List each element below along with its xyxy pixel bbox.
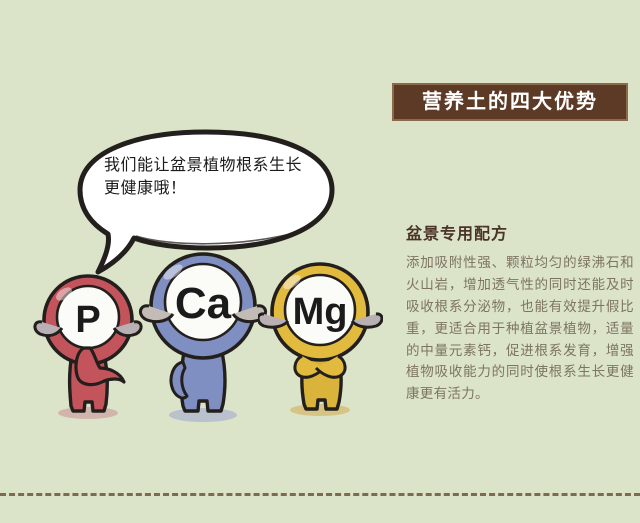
info-body-text: 添加吸附性强、颗粒均匀的绿沸石和火山岩，增加透气性的同时还能及时吸收根系分泌物，…: [406, 252, 634, 405]
mascot-mg-label: Mg: [293, 291, 348, 333]
mascot-p: P: [28, 272, 148, 427]
infographic-page: 营养土的四大优势 我们能让盆景植物根系生长更健康哦！: [0, 0, 640, 523]
speech-bubble-text: 我们能让盆景植物根系生长更健康哦！: [104, 154, 314, 200]
mascot-group: P Ca: [0, 250, 380, 430]
section-title-banner: 营养土的四大优势: [392, 83, 628, 121]
mascot-ca-label: Ca: [175, 279, 232, 328]
info-block: 盆景专用配方 添加吸附性强、颗粒均匀的绿沸石和火山岩，增加透气性的同时还能及时吸…: [406, 225, 634, 405]
mascot-mg: Mg: [258, 260, 383, 425]
mascot-ca: Ca: [135, 250, 270, 430]
section-title-text: 营养土的四大优势: [422, 92, 598, 112]
info-heading: 盆景专用配方: [406, 225, 634, 244]
mascot-p-label: P: [75, 299, 100, 341]
section-divider: [0, 493, 640, 496]
